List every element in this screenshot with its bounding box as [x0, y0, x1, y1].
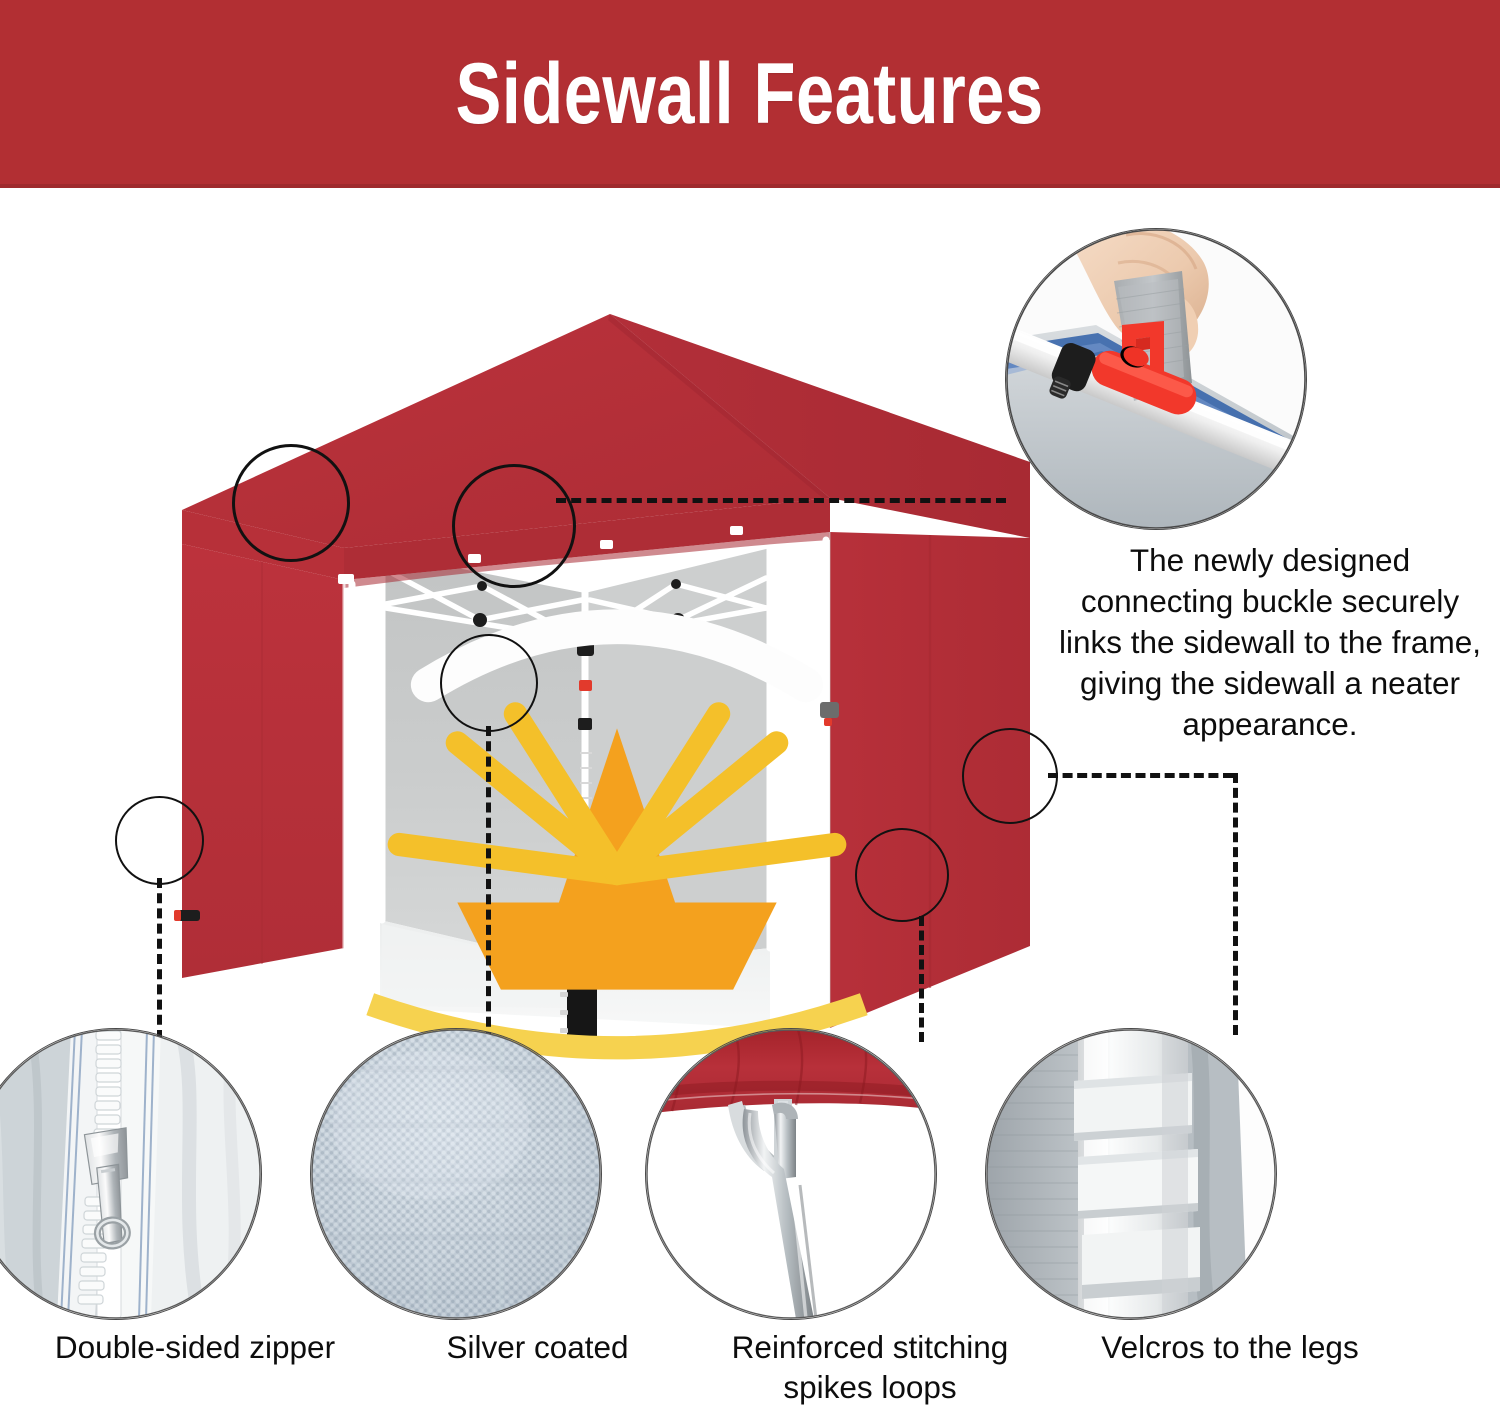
- leader-line-silver: [486, 726, 491, 1042]
- leader-line-velcro-vertical: [1233, 773, 1238, 1035]
- caption-line: Silver coated: [365, 1328, 710, 1368]
- caption-line: Reinforced stitching: [690, 1328, 1050, 1368]
- content-stage: The newly designed connecting buckle sec…: [0, 188, 1500, 1416]
- caption-line: spikes loops: [690, 1368, 1050, 1408]
- leader-line-zipper: [157, 878, 162, 1040]
- canopy-tent-illustration: [130, 248, 1030, 1078]
- caption-line: Double-sided zipper: [20, 1328, 370, 1368]
- caption-reinforced-stitching: Reinforced stitching spikes loops: [690, 1328, 1050, 1407]
- callout-circle-velcro-leg: [962, 728, 1058, 824]
- leader-line-buckle: [556, 498, 1006, 503]
- buckle-description-text: The newly designed connecting buckle sec…: [1055, 540, 1485, 745]
- page-title: Sidewall Features: [456, 51, 1044, 137]
- leader-line-velcro-horizontal: [1048, 773, 1233, 778]
- callout-circle-zipper: [115, 796, 204, 885]
- reinforced-stitching-spike-loop-photo: [645, 1028, 937, 1320]
- callout-circle-buckle-top-right: [452, 464, 576, 588]
- caption-velcro-legs: Velcros to the legs: [1060, 1328, 1400, 1368]
- silver-coated-fabric-photo: [310, 1028, 602, 1320]
- caption-silver-coated: Silver coated: [365, 1328, 710, 1368]
- callout-circle-silver-lining: [440, 634, 538, 732]
- callout-circle-buckle-top-left: [232, 444, 350, 562]
- connecting-buckle-photo: [1005, 228, 1307, 530]
- velcro-leg-strap-photo: [985, 1028, 1277, 1320]
- header-banner: Sidewall Features: [0, 0, 1500, 188]
- callout-circle-spike-loop: [855, 828, 949, 922]
- caption-line: Velcros to the legs: [1060, 1328, 1400, 1368]
- caption-double-sided-zipper: Double-sided zipper: [20, 1328, 370, 1368]
- leader-line-spikes: [919, 916, 924, 1042]
